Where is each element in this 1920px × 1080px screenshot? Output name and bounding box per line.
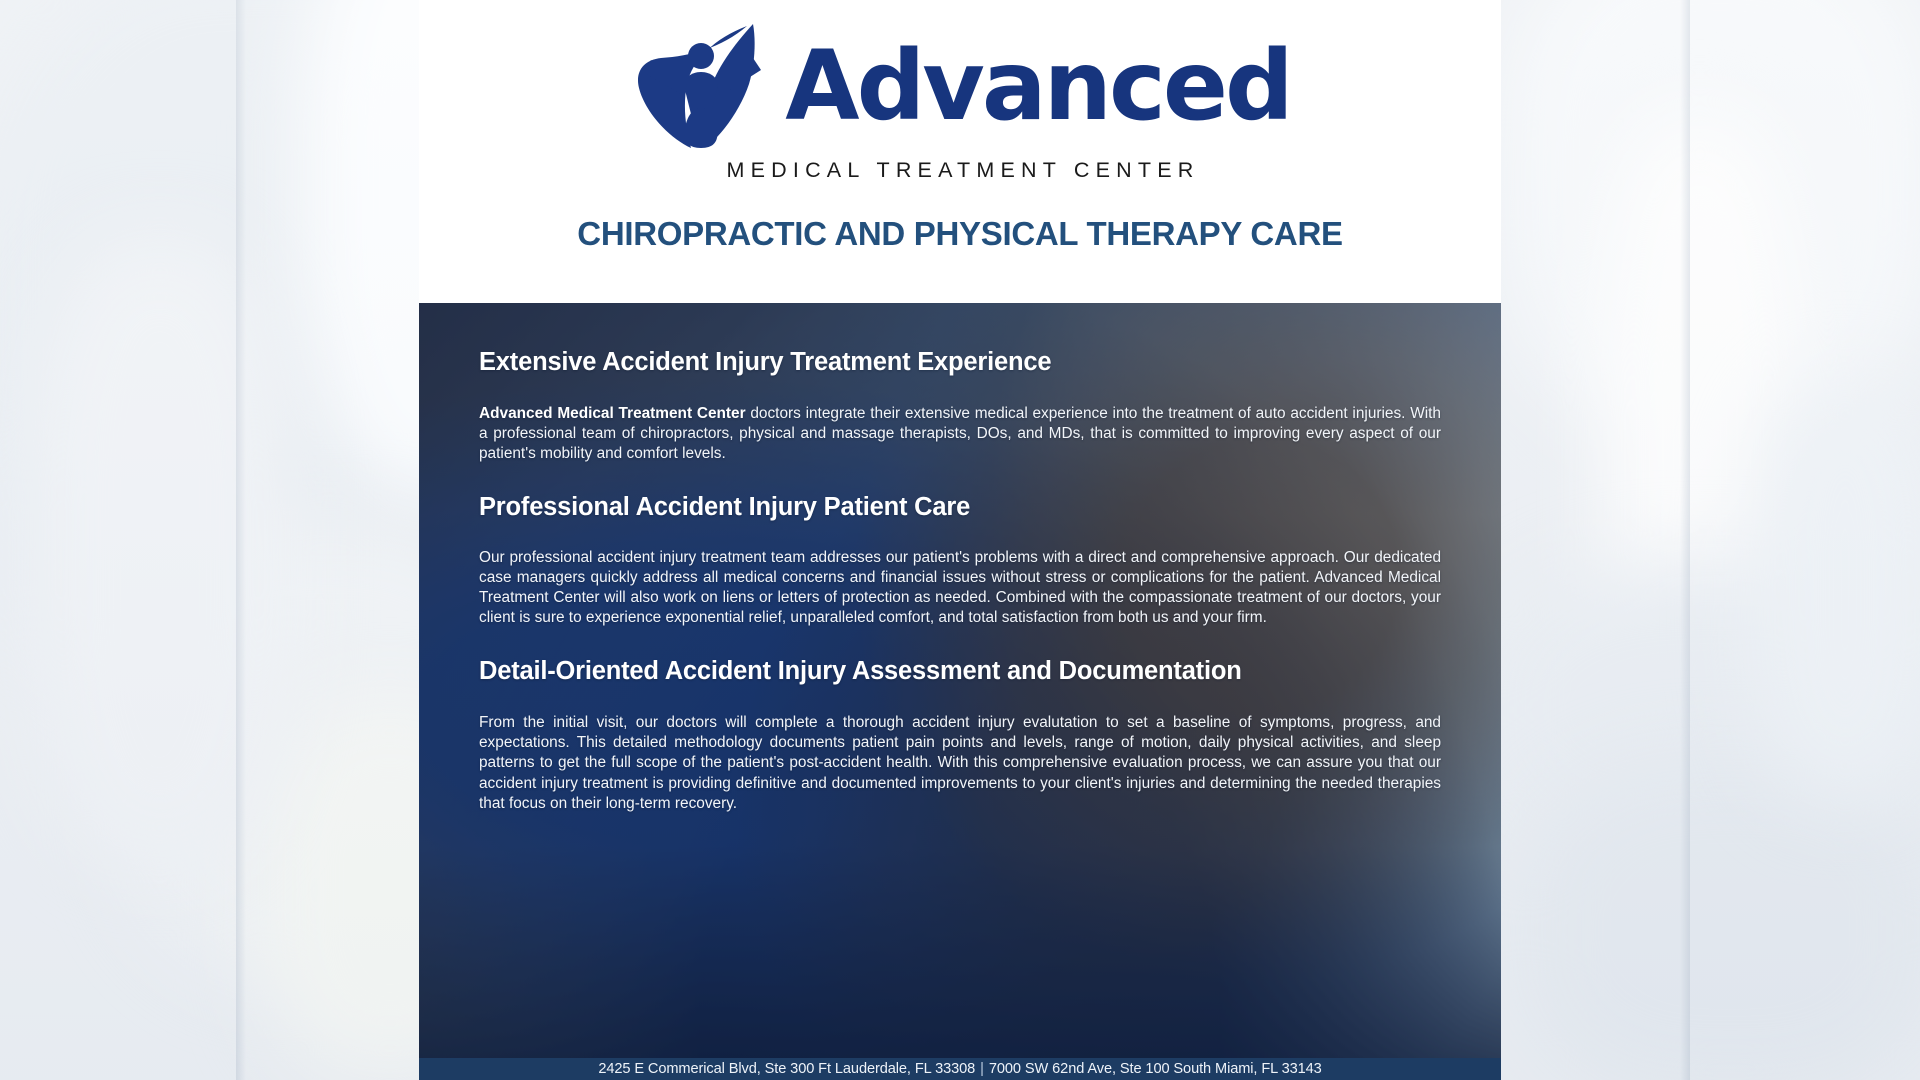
address-footer-bar: 2425 E Commerical Blvd, Ste 300 Ft Laude… bbox=[419, 1058, 1501, 1080]
address-line: 2425 E Commerical Blvd, Ste 300 Ft Laude… bbox=[598, 1061, 1321, 1077]
address-separator: | bbox=[975, 1061, 989, 1077]
brand-lockup: Advanced bbox=[629, 22, 1290, 150]
letterhead-header: Advanced MEDICAL TREATMENT CENTER CHIROP… bbox=[419, 0, 1501, 303]
section-lead-bold: Advanced Medical Treatment Center bbox=[479, 405, 746, 422]
panel-content: Extensive Accident Injury Treatment Expe… bbox=[419, 303, 1501, 814]
section-extensive-experience: Extensive Accident Injury Treatment Expe… bbox=[479, 347, 1441, 464]
section-body: Our professional accident injury treatme… bbox=[479, 548, 1441, 629]
brand-wordmark: Advanced bbox=[785, 40, 1290, 132]
section-heading: Detail-Oriented Accident Injury Assessme… bbox=[479, 656, 1441, 687]
section-heading: Professional Accident Injury Patient Car… bbox=[479, 492, 1441, 523]
section-professional-patient-care: Professional Accident Injury Patient Car… bbox=[479, 492, 1441, 628]
brand-wordmark-block: Advanced bbox=[785, 40, 1290, 132]
human-figure-shield-logo-icon bbox=[629, 22, 777, 150]
page-title: CHIROPRACTIC AND PHYSICAL THERAPY CARE bbox=[577, 215, 1342, 253]
document-page: Advanced MEDICAL TREATMENT CENTER CHIROP… bbox=[419, 0, 1501, 1080]
section-body: From the initial visit, our doctors will… bbox=[479, 713, 1441, 814]
section-body: Advanced Medical Treatment Center doctor… bbox=[479, 404, 1441, 465]
section-assessment-documentation: Detail-Oriented Accident Injury Assessme… bbox=[479, 656, 1441, 813]
section-heading: Extensive Accident Injury Treatment Expe… bbox=[479, 347, 1441, 378]
address-south-miami: 7000 SW 62nd Ave, Ste 100 South Miami, F… bbox=[989, 1061, 1322, 1077]
hero-content-panel: Extensive Accident Injury Treatment Expe… bbox=[419, 303, 1501, 1058]
brand-tagline: MEDICAL TREATMENT CENTER bbox=[721, 158, 1200, 183]
address-fort-lauderdale: 2425 E Commerical Blvd, Ste 300 Ft Laude… bbox=[598, 1061, 975, 1077]
